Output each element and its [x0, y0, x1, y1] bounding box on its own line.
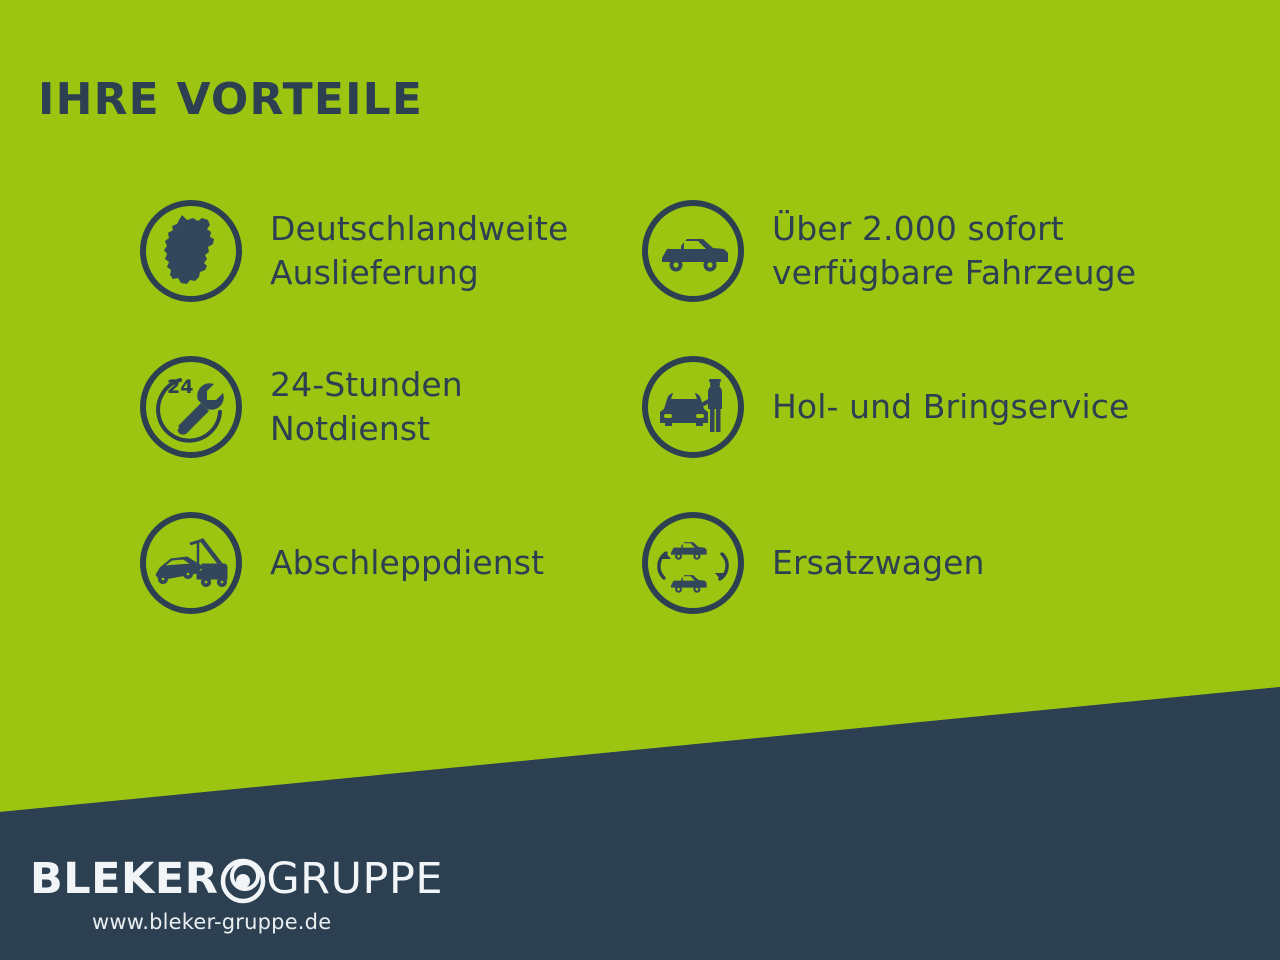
24-hour-wrench-icon: 24: [136, 352, 246, 462]
benefit-item-ersatzwagen[interactable]: Ersatzwagen: [638, 508, 985, 618]
germany-map-icon: [136, 196, 246, 306]
brand-name-bold: BLEKER: [30, 858, 218, 901]
benefit-label: Ersatzwagen: [772, 541, 985, 585]
car-side-icon: [638, 196, 748, 306]
benefit-item-verfuegbare-fahrzeuge[interactable]: Über 2.000 sofort verfügbare Fahrzeuge: [638, 196, 1136, 306]
benefit-item-abschleppdienst[interactable]: Abschleppdienst: [136, 508, 544, 618]
two-cars-cycle-icon: [638, 508, 748, 618]
website-url[interactable]: www.bleker-gruppe.de: [92, 910, 331, 934]
footer-logo-block[interactable]: BLEKER GRUPPE www.bleker-gruppe.de: [30, 846, 390, 942]
page-title: IHRE VORTEILE: [38, 78, 423, 122]
benefit-item-deutschlandweite-auslieferung[interactable]: Deutschlandweite Auslieferung: [136, 196, 568, 306]
benefit-label: Hol- und Bringservice: [772, 385, 1129, 429]
benefit-label: Abschleppdienst: [270, 541, 544, 585]
icon-24-label: 24: [167, 376, 193, 398]
spiral-circle-icon: [214, 850, 272, 908]
slide-canvas: IHRE VORTEILE Deutschlandweite Ausliefer…: [0, 0, 1280, 960]
tow-truck-icon: [136, 508, 246, 618]
benefit-item-hol-und-bringservice[interactable]: Hol- und Bringservice: [638, 352, 1129, 462]
brand-name-light: GRUPPE: [266, 858, 443, 901]
benefit-label: Über 2.000 sofort verfügbare Fahrzeuge: [772, 207, 1136, 295]
car-with-person-icon: [638, 352, 748, 462]
benefit-item-24-stunden-notdienst[interactable]: 24 24-Stunden Notdienst: [136, 352, 463, 462]
benefit-label: Deutschlandweite Auslieferung: [270, 207, 568, 295]
brand-lockup: BLEKER GRUPPE: [30, 852, 443, 906]
benefit-label: 24-Stunden Notdienst: [270, 363, 463, 451]
